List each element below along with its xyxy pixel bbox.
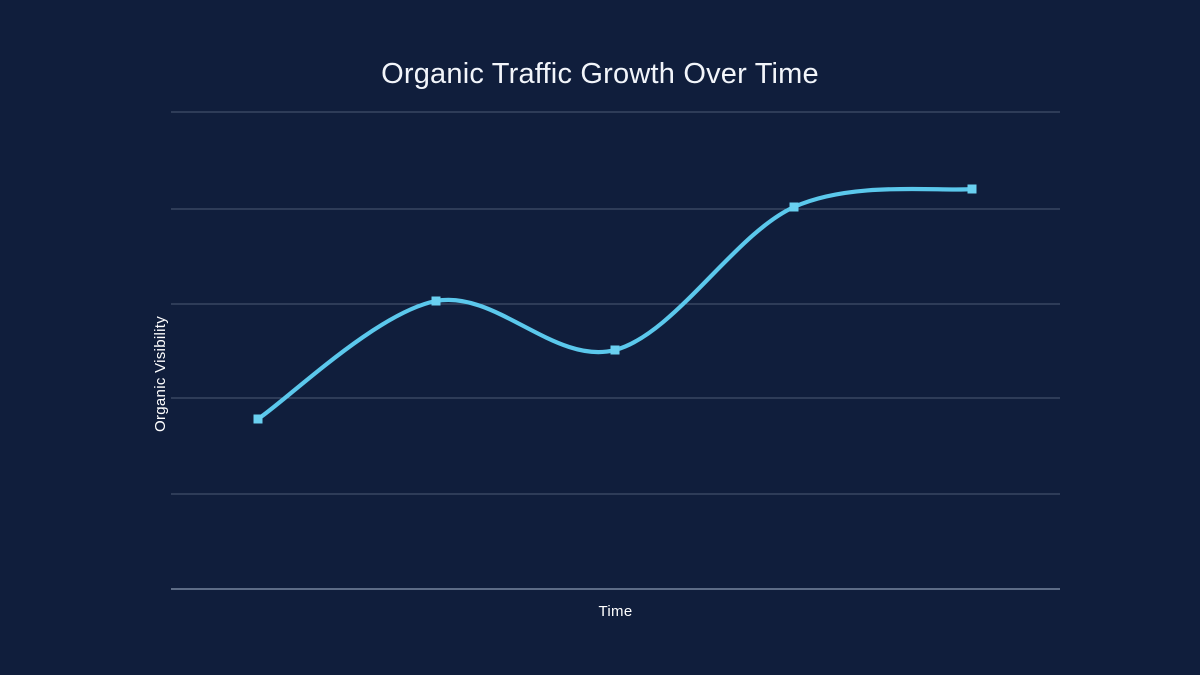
data-point-marker-3[interactable] — [611, 346, 620, 355]
data-point-marker-2[interactable] — [432, 297, 441, 306]
chart-title: Organic Traffic Growth Over Time — [0, 56, 1200, 92]
data-point-marker-4[interactable] — [790, 203, 799, 212]
data-point-marker-5[interactable] — [968, 185, 977, 194]
series-group — [171, 108, 1060, 593]
data-point-marker-1[interactable] — [254, 415, 263, 424]
y-axis-label: Organic Visibility — [152, 316, 169, 432]
plot-area — [171, 108, 1060, 593]
chart-container: Organic Traffic Growth Over Time Organic… — [0, 0, 1200, 675]
x-axis-label: Time — [171, 603, 1060, 620]
series-line-organic-visibility — [258, 189, 972, 419]
